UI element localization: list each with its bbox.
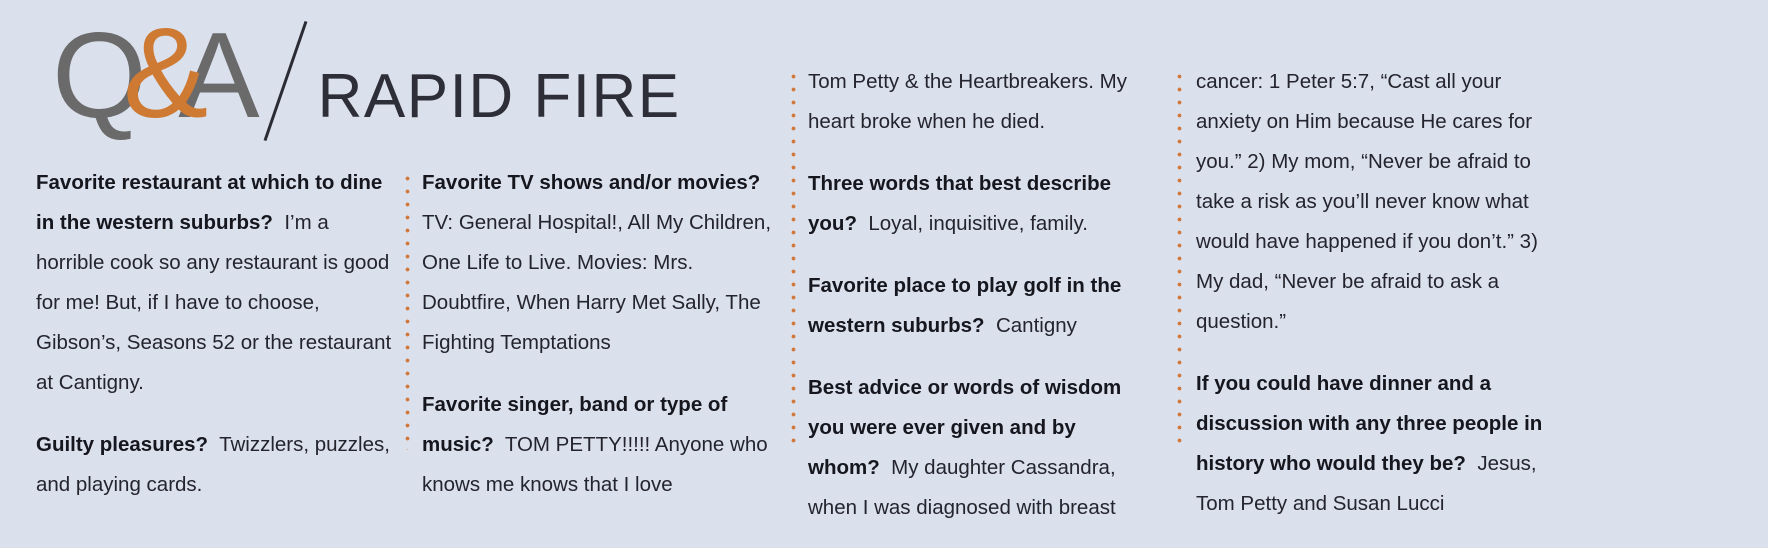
qa-answer: cancer: 1 Peter 5:7, “Cast all your anxi… <box>1196 70 1538 333</box>
column-1: Favorite restaurant at which to dine in … <box>36 163 396 505</box>
column-4: cancer: 1 Peter 5:7, “Cast all your anxi… <box>1196 62 1548 524</box>
columns-container: Favorite restaurant at which to dine in … <box>0 0 1768 548</box>
qa-block: Tom Petty & the Heartbreakers. My heart … <box>808 62 1156 142</box>
qa-question: Guilty pleasures? <box>36 433 208 456</box>
qa-answer: TV: General Hospital!, All My Children, … <box>422 211 771 354</box>
qa-block: cancer: 1 Peter 5:7, “Cast all your anxi… <box>1196 62 1548 342</box>
qa-block: Favorite restaurant at which to dine in … <box>36 163 396 403</box>
qa-answer: Tom Petty & the Heartbreakers. My heart … <box>808 70 1127 133</box>
column-2: Favorite TV shows and/or movies? TV: Gen… <box>422 163 774 505</box>
qa-block: Guilty pleasures? Twizzlers, puzzles, an… <box>36 425 396 505</box>
qa-answer: I’m a horrible cook so any restaurant is… <box>36 211 391 394</box>
qa-answer: Cantigny <box>996 314 1077 337</box>
qa-answer: Loyal, inquisitive, family. <box>868 212 1088 235</box>
qa-block: If you could have dinner and a discussio… <box>1196 364 1548 524</box>
qa-block: Best advice or words of wisdom you were … <box>808 368 1156 528</box>
qa-block: Favorite TV shows and/or movies? TV: Gen… <box>422 163 774 363</box>
qa-question: Favorite TV shows and/or movies? <box>422 171 760 194</box>
column-3: Tom Petty & the Heartbreakers. My heart … <box>808 62 1156 528</box>
qa-rapid-fire-page: Q&A RAPID FIRE Favorite restaurant at wh… <box>0 0 1768 548</box>
qa-block: Favorite place to play golf in the weste… <box>808 266 1156 346</box>
logo-ampersand-icon: & <box>123 10 204 138</box>
qa-question: Favorite restaurant at which to dine in … <box>36 171 382 234</box>
qa-block: Favorite singer, band or type of music? … <box>422 385 774 505</box>
qa-block: Three words that best describe you? Loya… <box>808 164 1156 244</box>
